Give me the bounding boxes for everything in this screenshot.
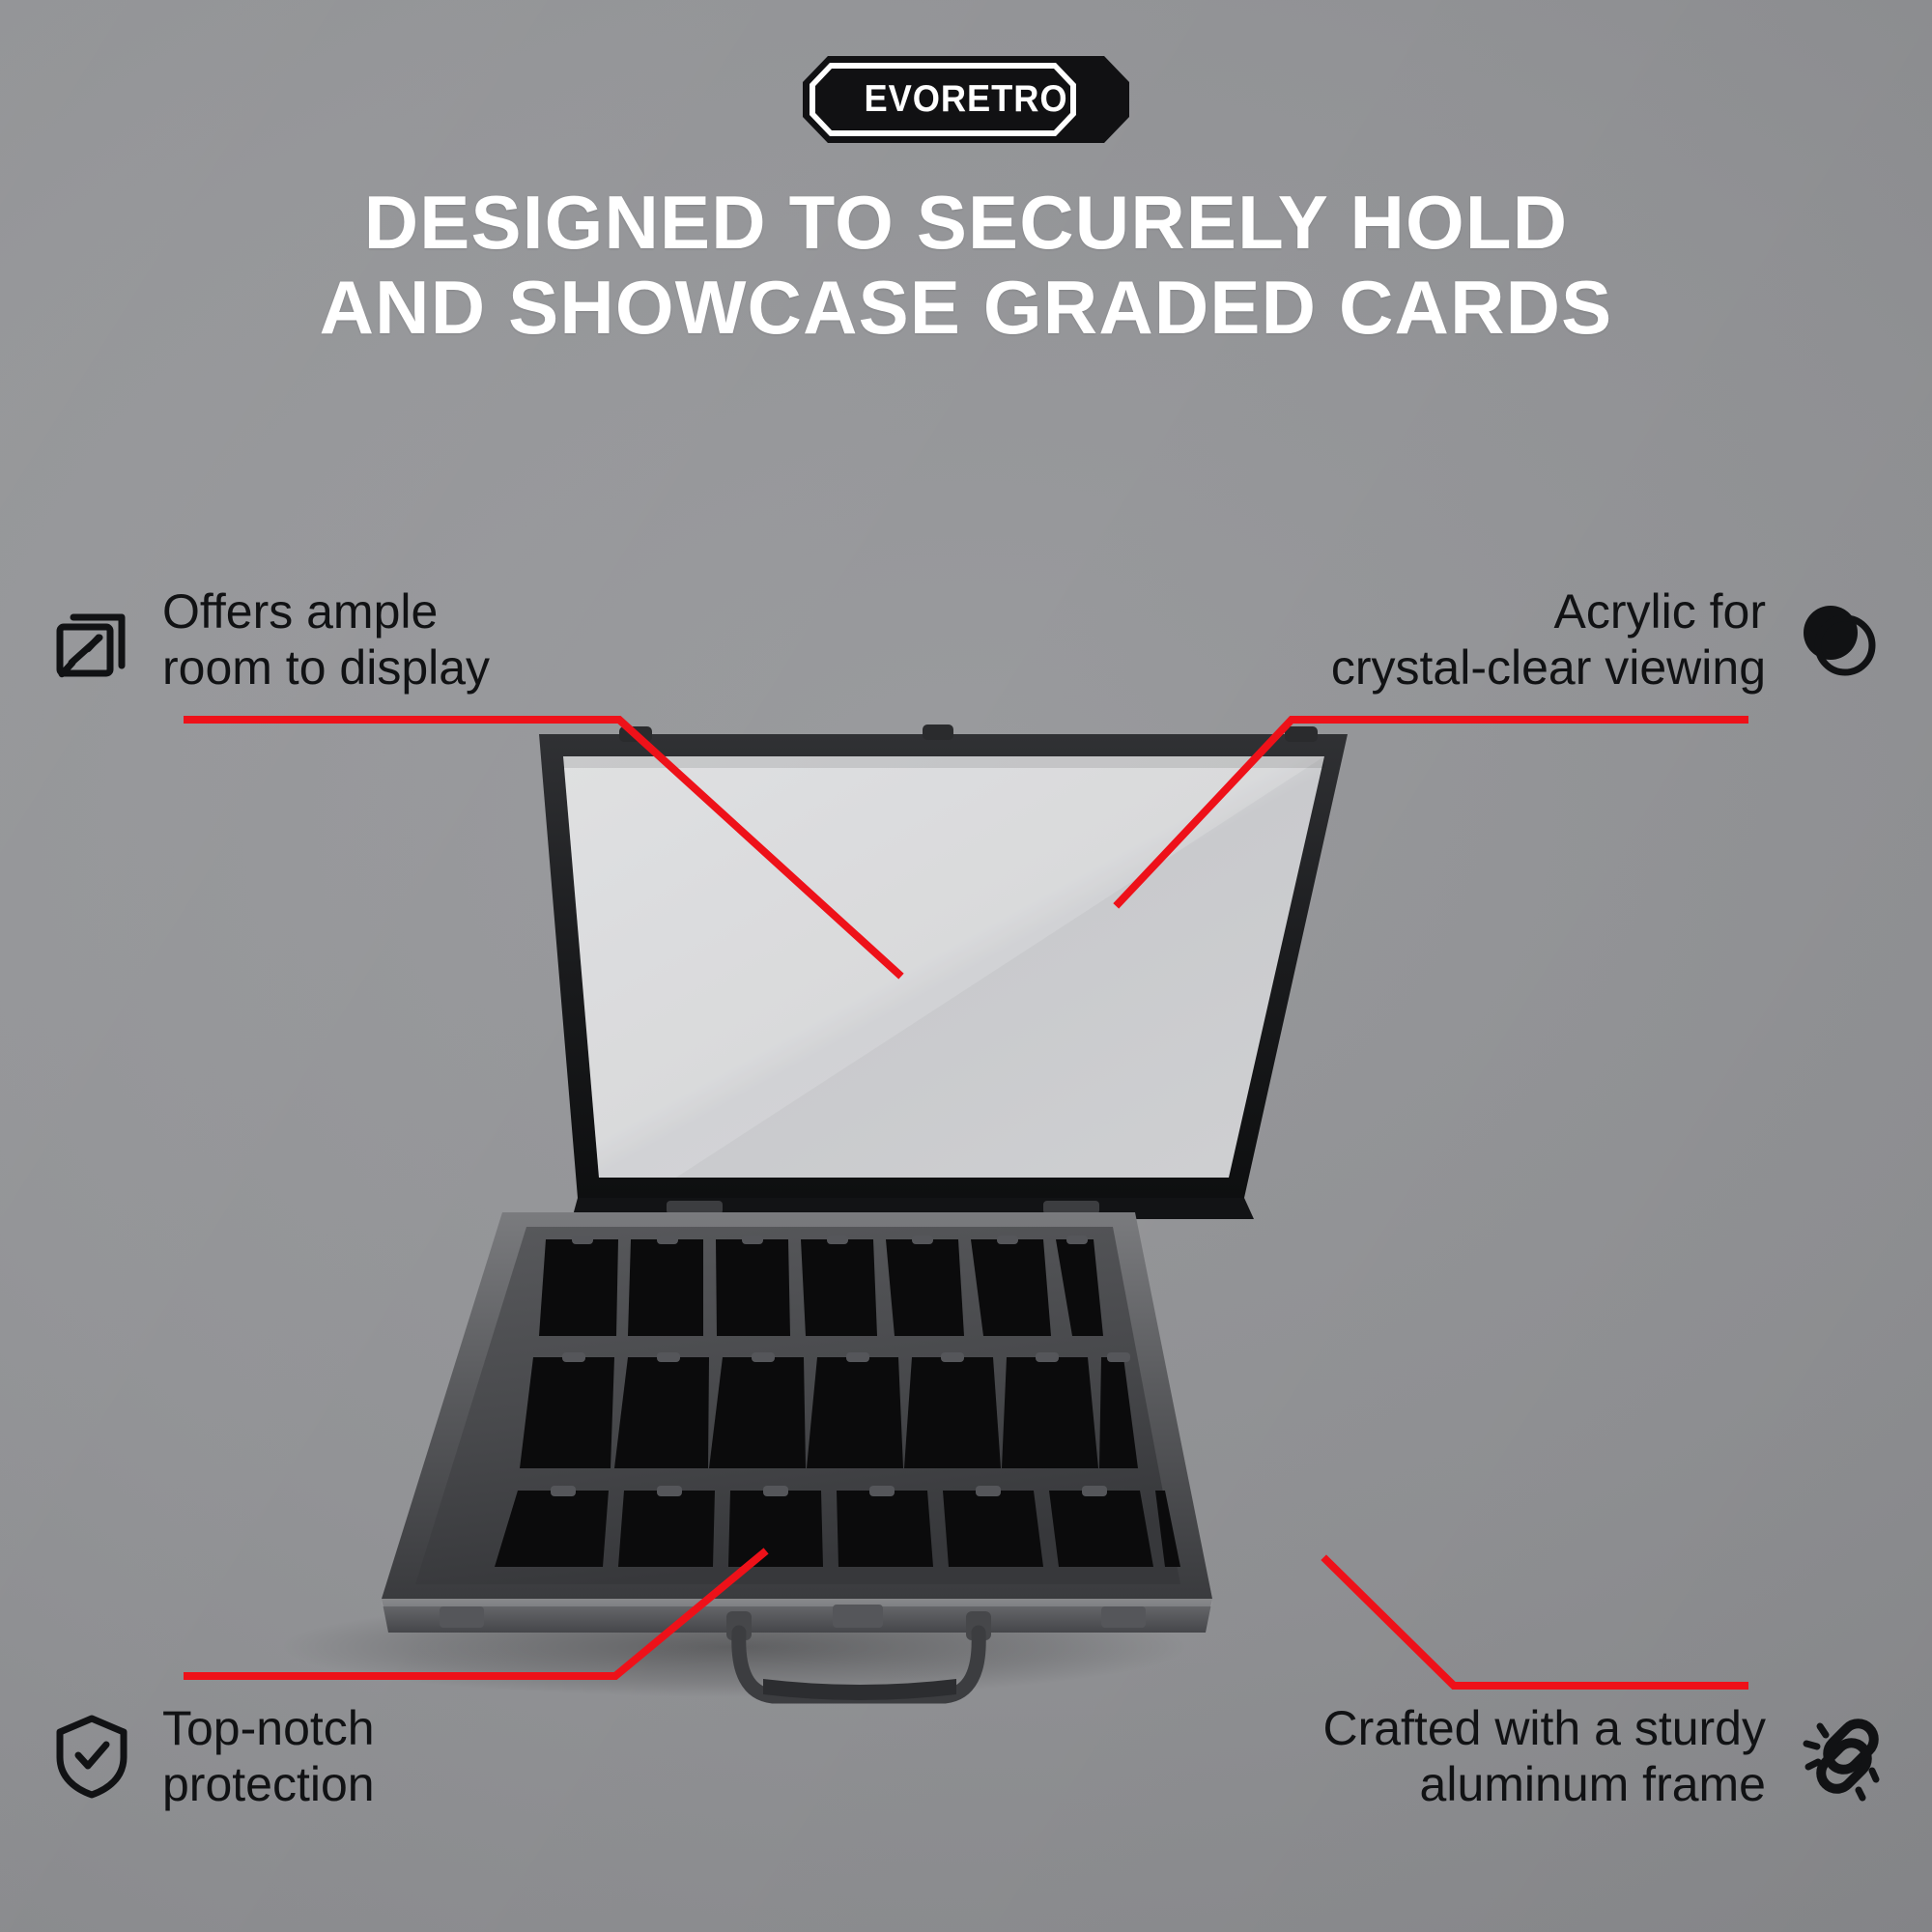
- feature-line-2: aluminum frame: [1322, 1756, 1766, 1812]
- feature-line-1: Top-notch: [162, 1700, 375, 1756]
- feature-acrylic-crystal-clear: Acrylic for crystal-clear viewing: [1331, 583, 1882, 696]
- feature-line-2: room to display: [162, 639, 490, 696]
- hinge-barrel-left: [667, 1201, 723, 1214]
- evoretro-logo: EVORETRO: [803, 56, 1129, 143]
- feature-label-top-notch-protection: Top-notch protection: [162, 1700, 375, 1812]
- latch-right: [1101, 1606, 1146, 1628]
- infographic-canvas: EVORETRO DESIGNED TO SECURELY HOLD AND S…: [0, 0, 1932, 1932]
- expand-arrows-icon: [50, 598, 133, 681]
- chain-link-icon: [1791, 1711, 1882, 1802]
- card-slot: [801, 1239, 877, 1336]
- feature-line-1: Acrylic for: [1331, 583, 1766, 639]
- card-slot: [520, 1357, 614, 1468]
- feature-sturdy-aluminum-frame: Crafted with a sturdy aluminum frame: [1322, 1700, 1882, 1812]
- latch-mid: [833, 1605, 883, 1628]
- card-slot: [904, 1357, 1001, 1468]
- card-slot: [618, 1491, 715, 1567]
- case-base: [382, 1212, 1212, 1700]
- card-slot: [728, 1491, 823, 1567]
- hinge-barrel-right: [1043, 1201, 1099, 1214]
- feature-label-sturdy-aluminum-frame: Crafted with a sturdy aluminum frame: [1322, 1700, 1766, 1812]
- headline-line-2: AND SHOWCASE GRADED CARDS: [0, 265, 1932, 350]
- headline-line-1: DESIGNED TO SECURELY HOLD: [0, 180, 1932, 265]
- card-slot: [886, 1239, 964, 1336]
- card-slot: [1049, 1491, 1153, 1567]
- feature-top-notch-protection: Top-notch protection: [50, 1700, 375, 1812]
- lid-latch-nub-left: [619, 726, 652, 742]
- card-slot: [807, 1357, 903, 1468]
- card-slot: [1002, 1357, 1098, 1468]
- base-front-wall-lip: [382, 1599, 1212, 1606]
- card-slot: [943, 1491, 1043, 1567]
- lid-latch-nub-right: [1285, 726, 1318, 742]
- feature-line-1: Offers ample: [162, 583, 490, 639]
- case-lid: [539, 724, 1348, 1198]
- card-slot-grid: [495, 1236, 1180, 1567]
- lid-latch-nub-mid: [923, 724, 953, 740]
- transparency-circles-icon: [1791, 594, 1882, 685]
- feature-line-1: Crafted with a sturdy: [1322, 1700, 1766, 1756]
- card-slot: [971, 1239, 1051, 1336]
- feature-offers-ample-room: Offers ample room to display: [50, 583, 490, 696]
- feature-label-acrylic-crystal-clear: Acrylic for crystal-clear viewing: [1331, 583, 1766, 696]
- headline: DESIGNED TO SECURELY HOLD AND SHOWCASE G…: [0, 180, 1932, 350]
- card-slot: [716, 1239, 790, 1336]
- card-slot: [614, 1357, 709, 1468]
- latch-left: [440, 1606, 484, 1628]
- logo-wordmark: EVORETRO: [814, 56, 1118, 143]
- feature-label-offers-ample-room: Offers ample room to display: [162, 583, 490, 696]
- feature-line-2: crystal-clear viewing: [1331, 639, 1766, 696]
- card-slot: [709, 1357, 806, 1468]
- card-slot: [837, 1491, 933, 1567]
- feature-line-2: protection: [162, 1756, 375, 1812]
- card-slot: [539, 1239, 618, 1336]
- shield-check-icon: [50, 1712, 133, 1801]
- card-slot: [628, 1239, 703, 1336]
- lid-acrylic-edge-shade: [563, 756, 1324, 768]
